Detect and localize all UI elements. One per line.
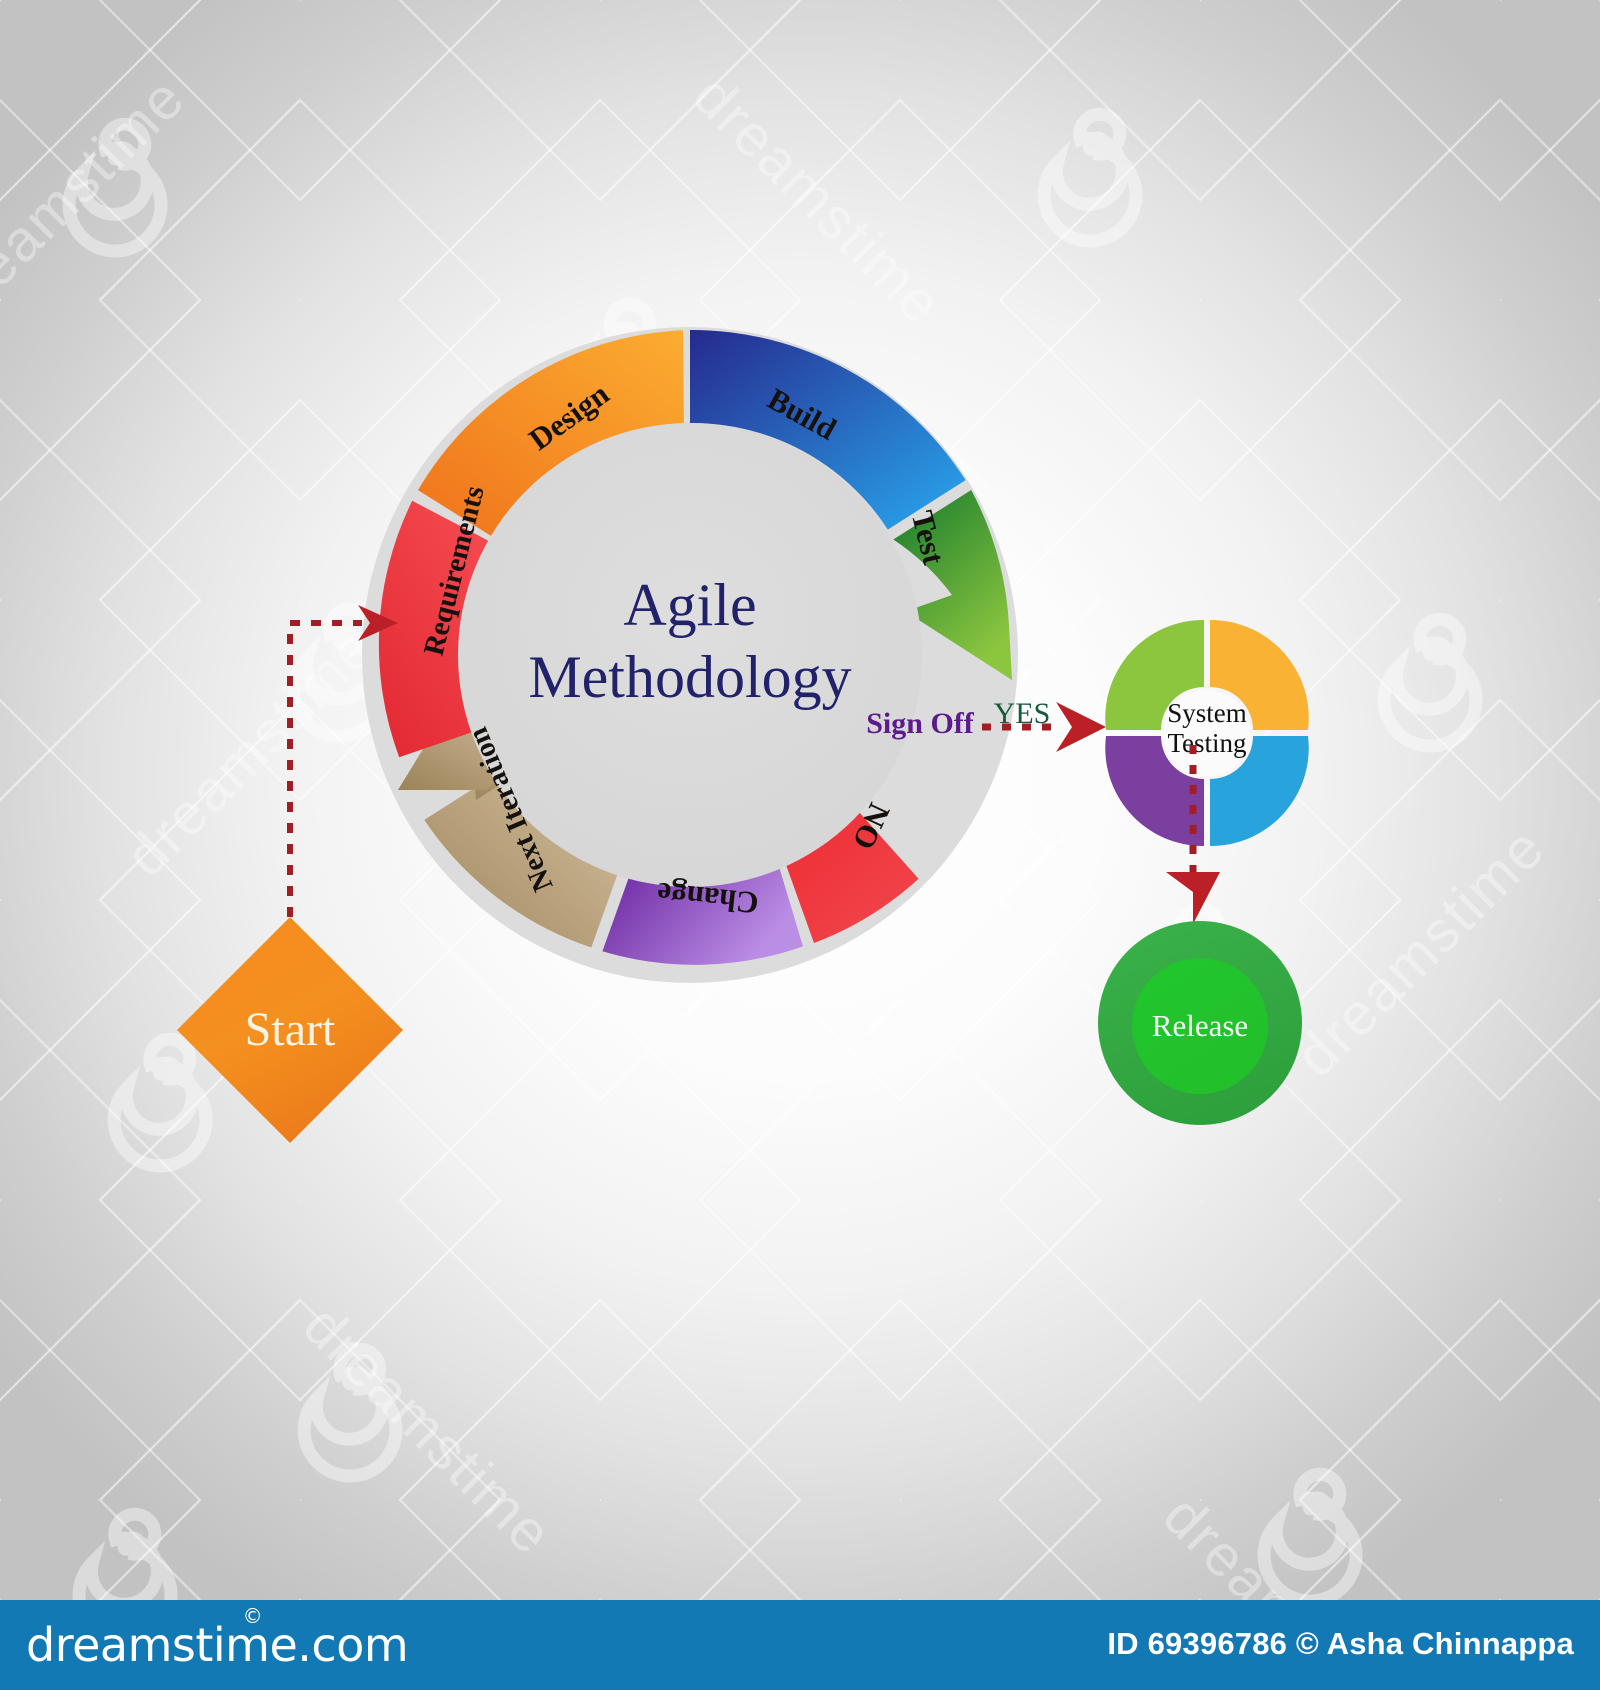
poster-canvas: dreamstime dreamstime dreamstime dreamst…	[0, 0, 1600, 1690]
release-label: Release	[1152, 1008, 1248, 1043]
wheel-center-title-line1: Agile	[623, 572, 756, 638]
agile-wheel: Agile Methodology Build Test NO Change N…	[362, 327, 1018, 983]
system-testing-node[interactable]: System Testing	[1105, 620, 1308, 846]
system-testing-label-line1: System	[1167, 698, 1247, 728]
wheel-label-sign-off: Sign Off	[866, 707, 975, 740]
image-credit: ID 69396786 © Asha Chinnappa	[1107, 1626, 1574, 1662]
connector-label-yes: YES	[994, 697, 1051, 730]
connector-arrowhead-release	[1166, 872, 1220, 924]
dreamstime-logo-text: dreamstime.com	[26, 1618, 408, 1672]
agile-methodology-diagram: Agile Methodology Build Test NO Change N…	[0, 0, 1600, 1690]
dreamstime-logo[interactable]: dreamstime.com ©	[26, 1618, 408, 1672]
footer-bar: dreamstime.com © ID 69396786 © Asha Chin…	[0, 1600, 1600, 1690]
connector-line-start	[290, 623, 362, 917]
wheel-center-title-line2: Methodology	[528, 644, 851, 710]
start-node[interactable]: Start	[177, 917, 403, 1143]
system-testing-label-line2: Testing	[1167, 728, 1246, 758]
start-label: Start	[245, 1003, 336, 1056]
release-node[interactable]: Release	[1098, 921, 1302, 1125]
dreamstime-logo-mark: ©	[243, 1604, 263, 1628]
connector-arrowhead-yes	[1056, 702, 1106, 752]
